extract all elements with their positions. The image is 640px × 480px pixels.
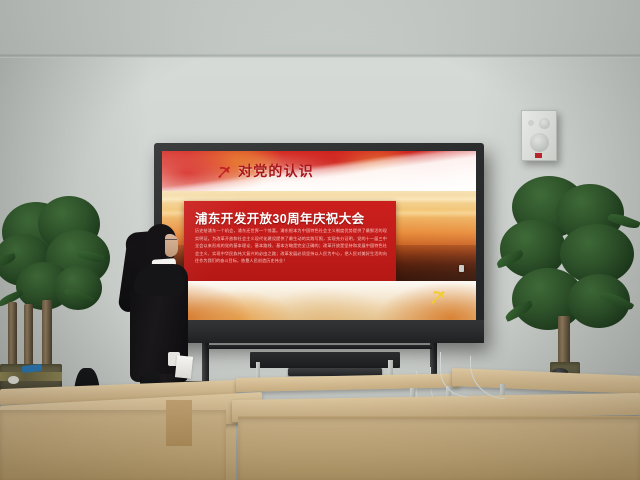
conference-table-front-panel (0, 410, 226, 480)
speaker-brand-badge (535, 153, 542, 158)
conference-table-right-panel (238, 418, 640, 480)
pot-label-tag (8, 376, 19, 384)
presentation-slide: 对党的认识 浦东开发开放30周年庆祝大会 历史给浦东一个机会，浦东还世界一个惊喜… (162, 151, 476, 320)
slide-main-title: 浦东开发开放30周年庆祝大会 (195, 208, 365, 227)
speaker-tweeter-cone (539, 118, 550, 129)
table-edge-highlight (238, 416, 640, 419)
face (165, 234, 178, 257)
cardboard-box (166, 400, 192, 446)
slide-footer-band (162, 281, 476, 320)
speaker-woofer-cone (530, 133, 549, 152)
slide-text-card: 浦东开发开放30周年庆祝大会 历史给浦东一个机会，浦东还世界一个惊喜。浦东根本为… (184, 201, 396, 281)
speaker-port (528, 120, 534, 126)
trunk (24, 304, 33, 368)
flag-wave-overlay (162, 151, 476, 193)
slide-header-band: 对党的认识 (162, 151, 476, 193)
footer-hammer-sickle-icon (429, 287, 448, 306)
display-screen[interactable]: 对党的认识 浦东开发开放30周年庆祝大会 历史给浦东一个机会，浦东还世界一个惊喜… (162, 151, 476, 320)
power-button[interactable] (459, 265, 464, 272)
trunk (8, 302, 17, 368)
shoulder (134, 266, 184, 296)
foliage (54, 266, 102, 310)
wall-upper (0, 0, 640, 56)
monitor (250, 352, 400, 368)
trunk (42, 300, 52, 368)
display-stand-crossbar (208, 345, 432, 349)
meeting-room-scene: 对党的认识 浦东开发开放30周年庆祝大会 历史给浦东一个机会，浦东还世界一个惊喜… (0, 0, 640, 480)
hammer-sickle-emblem-icon (216, 163, 233, 180)
glasses-icon (165, 239, 177, 243)
slide-body-text: 历史给浦东一个机会，浦东还世界一个惊喜。浦东根本为中国特色社会主义制度优势提供了… (195, 227, 387, 265)
slide-header-title: 对党的认识 (238, 162, 314, 181)
monitor-stand-leg (256, 362, 260, 378)
wall-mounted-speaker (521, 110, 557, 161)
paper-document (175, 355, 193, 379)
